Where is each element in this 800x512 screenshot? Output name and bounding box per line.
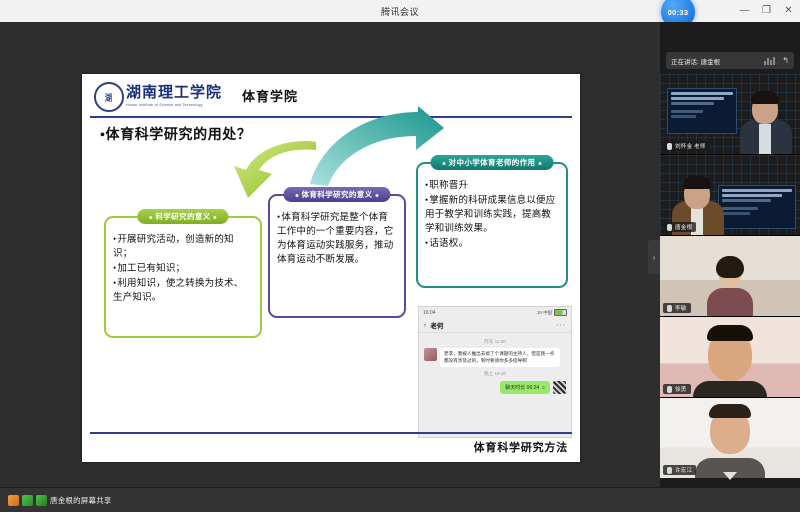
participant-rail: › 正在讲话: 唐金根 ↰ 刘怀金 老师 — [660, 22, 800, 488]
list-item: 话语权。 — [425, 236, 559, 251]
university-logo-icon: 湖 — [94, 82, 124, 112]
list-item: 掌握新的科研成果信息以便应用于教学和训练实践，提高教学和训练效果。 — [425, 193, 559, 236]
participant-name-tag: 唐金根 — [663, 222, 696, 232]
wechat-status-time: 16:04 — [423, 310, 436, 316]
wechat-timestamp: 昨天 11:00 — [424, 339, 566, 345]
wechat-nav-bar: ‹ 老何 ··· — [419, 318, 571, 333]
presentation-slide: 湖 湖南理工学院 Hunan Institute of Science and … — [82, 74, 580, 462]
phone-icon: ⌕ — [542, 385, 545, 391]
callout-caption-teal: 对中小学体育老师的作用 — [431, 155, 554, 170]
callout-list-teal: 职称晋升 掌握新的科研成果信息以便应用于教学和训练实践，提高教学和训练效果。 话… — [418, 164, 566, 257]
participant-tile[interactable]: 刘怀金 老师 — [660, 74, 800, 155]
shared-screen-stage[interactable]: 湖 湖南理工学院 Hunan Institute of Science and … — [0, 22, 660, 488]
slide-footer-text: 体育科学研究方法 — [474, 439, 568, 455]
title-bar: 腾讯会议 00:33 — ❐ ✕ — [0, 0, 800, 23]
meeting-timer-value: 00:33 — [668, 8, 689, 17]
taskbar-item-label: 唐金根的屏幕共享 — [50, 495, 112, 506]
participant-name-tag: 许宏江 — [663, 465, 696, 475]
return-icon[interactable]: ↰ — [782, 56, 789, 65]
avatar — [424, 348, 437, 361]
list-item: 加工已有知识； — [113, 261, 253, 276]
wechat-carrier-label: 34 中国 — [537, 310, 552, 316]
maximize-icon[interactable]: ❐ — [761, 6, 772, 16]
participant-name: 徐勇 — [675, 385, 687, 393]
participant-name-tag: 徐勇 — [663, 384, 691, 394]
window-title: 腾讯会议 — [381, 5, 419, 18]
avatar — [553, 381, 566, 394]
callout-caption-purple-text: 体育科学研究的意义 — [301, 190, 372, 199]
shared-slide-thumbnail — [718, 185, 796, 229]
participant-tiles: 刘怀金 老师 唐金根 — [660, 74, 800, 474]
participant-name: 唐金根 — [675, 223, 692, 231]
participant-name-tag: 刘怀金 老师 — [663, 141, 710, 151]
wechat-call-bubble: 聊天时长 06:24 ⌕ — [500, 381, 550, 394]
collapse-rail-button[interactable]: › — [648, 240, 660, 274]
audio-level-icon — [764, 57, 775, 65]
caption-dot-icon — [376, 194, 379, 197]
microphone-icon — [667, 224, 672, 231]
back-icon: ‹ — [424, 322, 426, 329]
microphone-icon — [667, 305, 672, 312]
slide-footer: 体育科学研究方法 — [90, 432, 572, 458]
callout-list-purple: 体育科学研究是整个体育工作中的一个重要内容，它为体育运动实践服务，推动体育运动不… — [270, 196, 404, 273]
caption-dot-icon — [538, 162, 541, 165]
participant-tile[interactable]: 李敏 — [660, 236, 800, 317]
user-icon — [8, 495, 19, 506]
wechat-call-duration: 聊天时长 06:24 — [505, 384, 539, 391]
university-name: 湖南理工学院 Hunan Institute of Science and Te… — [126, 81, 222, 107]
slide-title: •体育科学研究的用处？ — [100, 124, 252, 144]
list-item: 利用知识，使之转换为技术、生产知识。 — [113, 276, 253, 305]
microphone-icon — [667, 386, 672, 393]
wechat-status-bar: 16:04 34 中国 — [419, 307, 571, 318]
person-figure — [701, 254, 759, 316]
person-figure — [738, 88, 794, 154]
screen-icon — [22, 495, 33, 506]
microphone-icon — [667, 143, 672, 150]
callout-box-purple: 体育科学研究的意义 体育科学研究是整个体育工作中的一个重要内容，它为体育运动实践… — [268, 194, 406, 318]
battery-icon — [554, 309, 567, 316]
active-speaker-label: 正在讲话: 唐金根 — [671, 56, 720, 66]
wechat-outgoing-message: 聊天时长 06:24 ⌕ — [424, 381, 566, 394]
tencent-meeting-window: 腾讯会议 00:33 — ❐ ✕ 湖 湖南理工学院 Hunan Institut… — [0, 0, 800, 512]
university-name-en: Hunan Institute of Science and Technolog… — [126, 103, 220, 107]
participant-tile[interactable]: 许宏江 — [660, 398, 800, 478]
wechat-timestamp: 晚上 19:40 — [424, 371, 566, 377]
download-icon — [36, 495, 47, 506]
caption-dot-icon — [443, 162, 446, 165]
wechat-message-text: 老李，我被人推出去搞了个课题的主持人，但是我一点都没有涉及过的，到时要请你多多指… — [440, 348, 560, 367]
shared-slide-thumbnail — [667, 88, 737, 134]
microphone-icon — [667, 467, 672, 474]
caption-dot-icon — [214, 216, 217, 219]
caption-dot-icon — [149, 216, 152, 219]
callout-caption-purple: 体育科学研究的意义 — [283, 187, 390, 202]
list-item: 开展研究活动，创造新的知识； — [113, 232, 253, 261]
taskbar-item-screen-share[interactable]: 唐金根的屏幕共享 — [4, 491, 116, 509]
university-name-cn: 湖南理工学院 — [126, 81, 222, 102]
department-name: 体育学院 — [242, 86, 298, 105]
participant-name: 刘怀金 老师 — [675, 142, 706, 150]
callout-caption-teal-text: 对中小学体育老师的作用 — [449, 158, 536, 167]
minimize-icon[interactable]: — — [739, 6, 750, 16]
participant-tile[interactable]: 徐勇 — [660, 317, 800, 398]
taskbar: 唐金根的屏幕共享 — [0, 487, 800, 512]
caption-dot-icon — [295, 194, 298, 197]
scroll-down-icon[interactable] — [723, 472, 737, 480]
participant-name: 李敏 — [675, 304, 687, 312]
wechat-conversation: 昨天 11:00 老李，我被人推出去搞了个课题的主持人，但是我一点都没有涉及过的… — [419, 333, 571, 438]
more-icon: ··· — [556, 322, 566, 329]
list-item: 职称晋升 — [425, 178, 559, 193]
active-speaker-banner: 正在讲话: 唐金根 ↰ — [666, 52, 794, 69]
callout-caption-green: 科学研究的意义 — [137, 209, 228, 224]
wechat-screenshot-image: 16:04 34 中国 ‹ 老何 ··· 昨天 11:00 老李，我被人推出去搞… — [418, 306, 572, 438]
participant-name: 许宏江 — [675, 466, 692, 474]
list-item: 体育科学研究是整个体育工作中的一个重要内容，它为体育运动实践服务，推动体育运动不… — [277, 210, 397, 267]
participant-tile[interactable]: 唐金根 — [660, 155, 800, 236]
participant-name-tag: 李敏 — [663, 303, 691, 313]
window-controls: — ❐ ✕ — [739, 0, 794, 22]
callout-caption-green-text: 科学研究的意义 — [155, 212, 210, 221]
wechat-contact-name: 老何 — [430, 320, 443, 330]
callout-box-green: 科学研究的意义 开展研究活动，创造新的知识； 加工已有知识； 利用知识，使之转换… — [104, 216, 262, 338]
chevron-right-icon: › — [653, 253, 656, 262]
wechat-incoming-message: 老李，我被人推出去搞了个课题的主持人，但是我一点都没有涉及过的，到时要请你多多指… — [424, 348, 566, 367]
callout-list-green: 开展研究活动，创造新的知识； 加工已有知识； 利用知识，使之转换为技术、生产知识… — [106, 218, 260, 311]
close-icon[interactable]: ✕ — [783, 6, 794, 16]
callout-box-teal: 对中小学体育老师的作用 职称晋升 掌握新的科研成果信息以便应用于教学和训练实践，… — [416, 162, 568, 288]
